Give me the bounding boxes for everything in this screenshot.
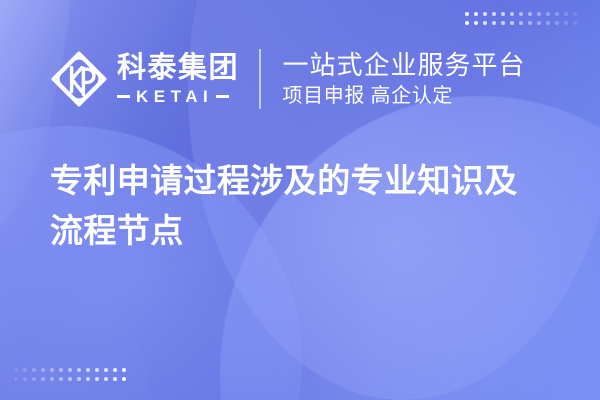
decorative-dot (104, 368, 108, 372)
decorative-dot (86, 377, 90, 381)
decorative-dot (68, 377, 72, 381)
decorative-dot (546, 12, 550, 16)
decorative-dot (14, 377, 18, 381)
decorative-dot (32, 368, 36, 372)
header-divider (259, 49, 261, 109)
decorative-dot (528, 12, 532, 16)
decorative-dot (519, 12, 523, 16)
decorative-dot (104, 377, 108, 381)
decorative-dot (41, 377, 45, 381)
decorative-dot (113, 377, 117, 381)
decorative-dot (113, 368, 117, 372)
brand-name-en-row: KETAI (117, 88, 239, 105)
decorative-dot (528, 21, 532, 25)
decorative-dot (501, 21, 505, 25)
dot-grid-top-right (465, 12, 582, 30)
decorative-dot (77, 368, 81, 372)
decorative-dot (474, 21, 478, 25)
decorative-dot (32, 377, 36, 381)
decorative-dot (519, 21, 523, 25)
decorative-dot (510, 12, 514, 16)
decorative-dot (564, 21, 568, 25)
decorative-dot (465, 21, 469, 25)
decorative-dot (59, 368, 63, 372)
dot-grid-bottom-left (14, 368, 131, 386)
decorative-dot (122, 377, 126, 381)
tagline-secondary: 项目申报 高企认定 (283, 84, 526, 108)
brand-name-en: KETAI (136, 88, 213, 105)
decorative-dot (492, 12, 496, 16)
decorative-dot (59, 377, 63, 381)
ketai-kp-monogram-icon (50, 50, 108, 108)
decorative-dot (68, 368, 72, 372)
decorative-dot (95, 377, 99, 381)
wordmark-dash-left (117, 95, 130, 98)
decorative-dot (537, 21, 541, 25)
decorative-dot (465, 12, 469, 16)
brand-logo: 科泰集团 KETAI (50, 50, 239, 108)
wordmark-dash-right (216, 95, 229, 98)
banner-header: 科泰集团 KETAI 一站式企业服务平台 项目申报 高企认定 (50, 42, 526, 116)
decorative-dot (555, 12, 559, 16)
decorative-dot (510, 21, 514, 25)
decorative-dot (50, 368, 54, 372)
page-title: 专利申请过程涉及的专业知识及 流程节点 (50, 156, 550, 256)
decorative-dot (573, 12, 577, 16)
promo-banner: 科泰集团 KETAI 一站式企业服务平台 项目申报 高企认定 专利申请过程涉及的… (0, 0, 600, 400)
decorative-dot (483, 21, 487, 25)
decorative-dot (492, 21, 496, 25)
decorative-dot (501, 12, 505, 16)
decorative-dot (86, 368, 90, 372)
decorative-dot (23, 368, 27, 372)
page-title-line-1: 专利申请过程涉及的专业知识及 (50, 156, 550, 206)
decorative-dot (122, 368, 126, 372)
decorative-dot (474, 12, 478, 16)
page-title-line-2: 流程节点 (50, 206, 550, 256)
decorative-dot (573, 21, 577, 25)
decorative-dot (50, 377, 54, 381)
tagline-primary: 一站式企业服务平台 (283, 50, 526, 81)
decorative-dot (23, 377, 27, 381)
brand-wordmark: 科泰集团 KETAI (117, 53, 239, 104)
decorative-dot (483, 12, 487, 16)
decorative-dot (41, 368, 45, 372)
decorative-dot (555, 21, 559, 25)
decorative-dot (564, 12, 568, 16)
decorative-dot (95, 368, 99, 372)
brand-tagline: 一站式企业服务平台 项目申报 高企认定 (283, 50, 526, 109)
decorative-dot (14, 368, 18, 372)
decorative-dot (546, 21, 550, 25)
background-blob-bottom-shade (0, 250, 150, 400)
decorative-dot (537, 12, 541, 16)
brand-name-cn: 科泰集团 (117, 53, 239, 83)
decorative-dot (77, 377, 81, 381)
